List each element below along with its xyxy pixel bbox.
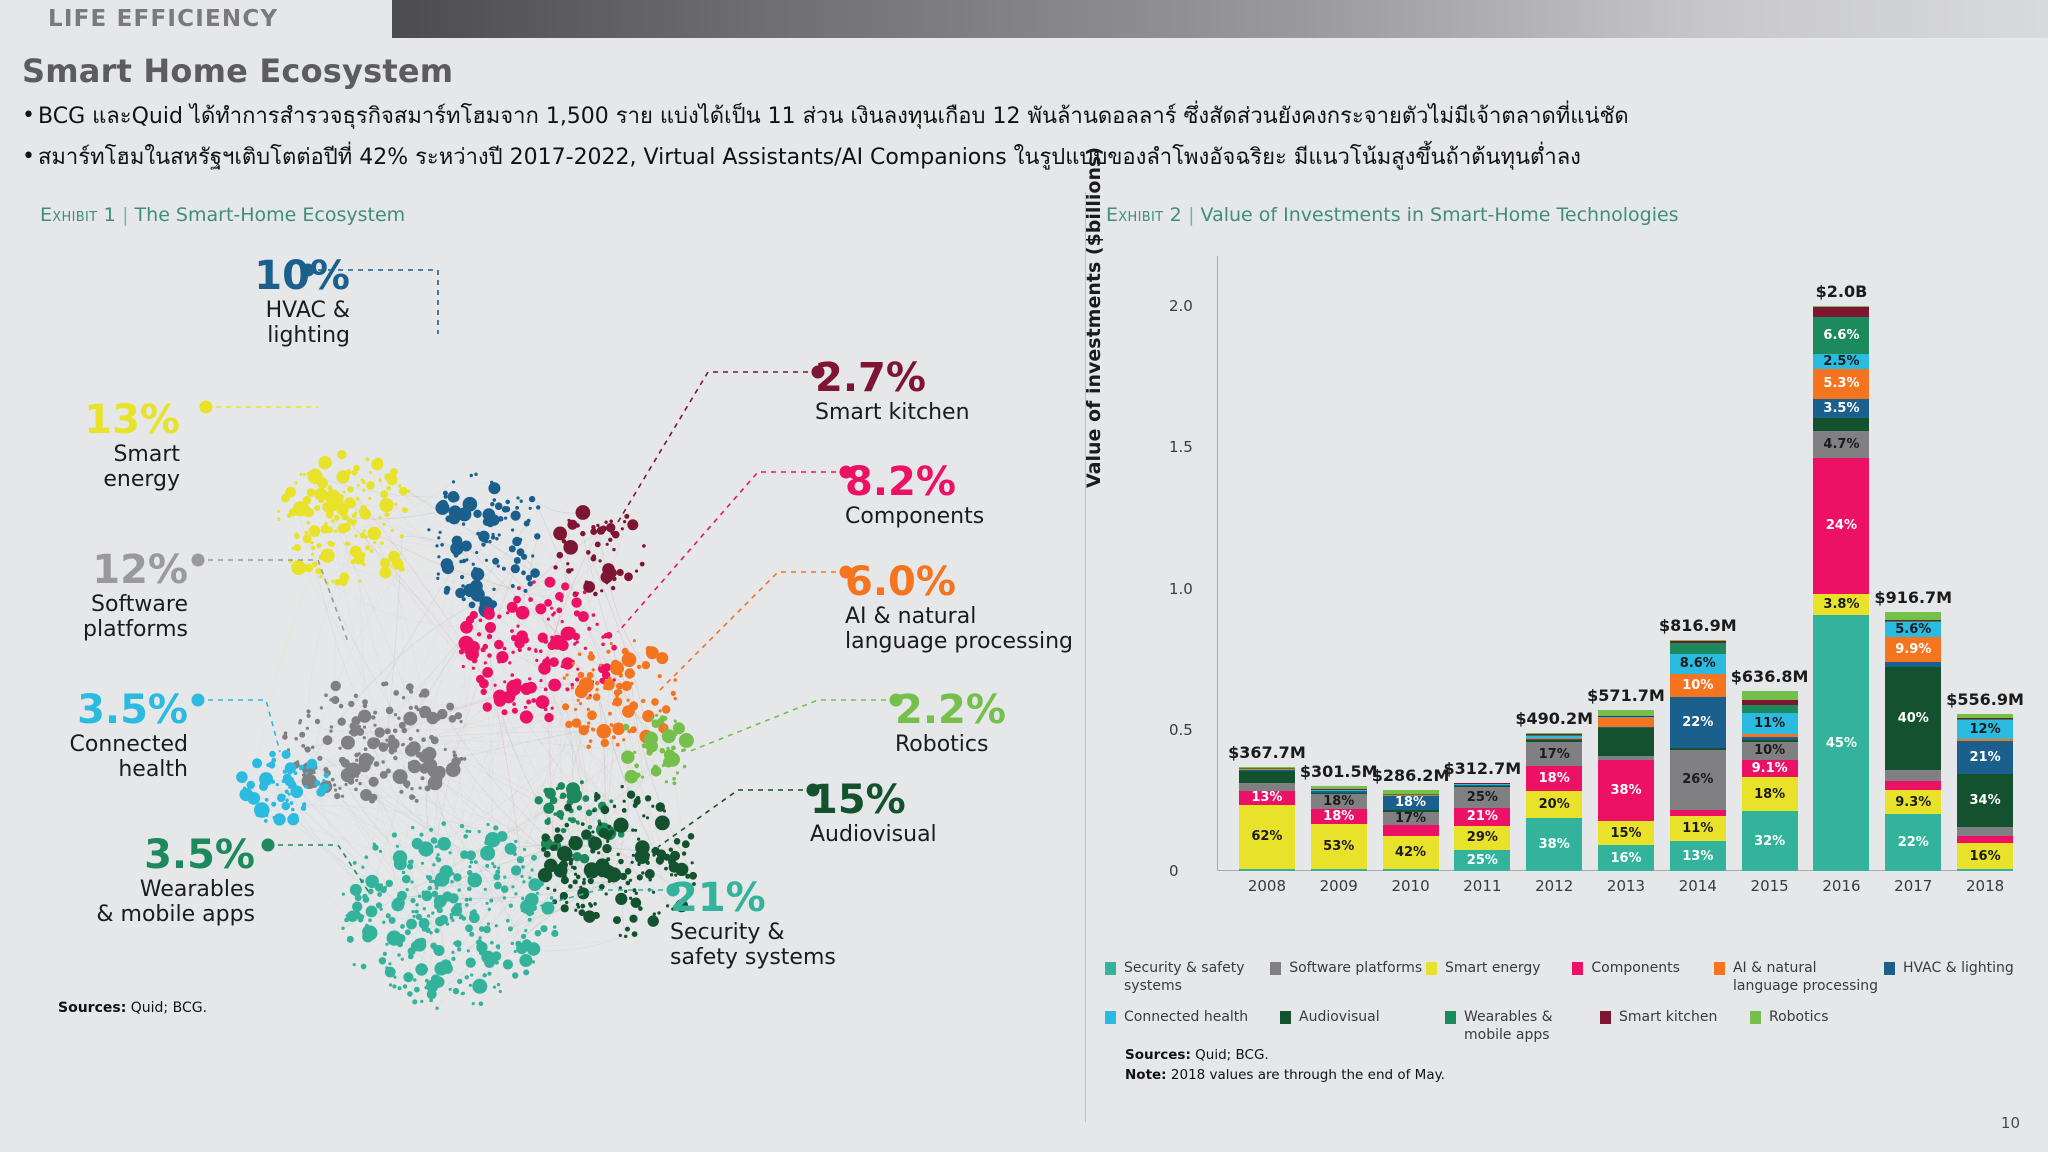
network-node — [532, 580, 536, 584]
network-node — [374, 761, 380, 767]
bar-segment[interactable]: 12% — [1957, 720, 2013, 739]
network-node — [541, 902, 554, 915]
network-node — [531, 855, 537, 861]
network-node — [561, 904, 569, 912]
bar-segment[interactable] — [1885, 770, 1941, 781]
network-node — [653, 912, 656, 915]
network-node — [341, 759, 350, 768]
network-node — [550, 607, 553, 610]
legend-item[interactable]: Smart kitchen — [1600, 1009, 1750, 1044]
network-node — [427, 914, 430, 917]
bar-segment[interactable] — [1598, 718, 1654, 726]
exhibit-1-title: Exhibit 1 | The Smart-Home Ecosystem — [18, 192, 1076, 226]
network-node — [635, 570, 638, 573]
network-node — [425, 891, 430, 896]
network-node — [363, 736, 366, 739]
network-node — [560, 796, 563, 799]
network-node — [381, 567, 384, 570]
bar-segment[interactable] — [1239, 783, 1295, 791]
y-tick-label: 0.5 — [1169, 721, 1193, 739]
bullet-text-2: สมาร์ทโฮมในสหรัฐฯเติบโตต่อปีที่ 42% ระหว… — [38, 145, 1581, 170]
network-node — [314, 505, 320, 511]
network-node — [437, 853, 440, 856]
bar-segment[interactable]: 17% — [1383, 812, 1439, 826]
network-node — [593, 693, 601, 701]
network-node — [403, 972, 413, 982]
network-node — [371, 715, 375, 719]
x-tick-label: 2012 — [1535, 877, 1573, 895]
callout-pct: 3.5% — [20, 690, 188, 730]
network-node — [360, 532, 366, 538]
bar-segment[interactable]: 3.8% — [1813, 594, 1869, 616]
callout-label: Security & safety systems — [670, 920, 900, 970]
bar-segment[interactable]: 17% — [1526, 742, 1582, 766]
callout-label: Robotics — [895, 732, 1085, 757]
network-node — [380, 490, 388, 498]
bar-segment[interactable] — [1957, 836, 2013, 844]
network-node — [528, 581, 533, 586]
bar-chart: Value of investments ($billions) 00.51.0… — [1085, 236, 2030, 916]
network-node — [544, 599, 552, 607]
network-node — [434, 928, 439, 933]
network-edge — [561, 678, 565, 786]
network-node — [303, 496, 312, 505]
network-node — [393, 729, 398, 734]
bar-segment[interactable]: 9.9% — [1885, 637, 1941, 663]
bar-segment[interactable]: 16% — [1957, 843, 2013, 868]
network-node — [382, 523, 385, 526]
bar-segment[interactable]: 38% — [1526, 818, 1582, 871]
page-title: Smart Home Ecosystem — [22, 52, 453, 90]
network-node — [392, 984, 396, 988]
network-node — [421, 862, 424, 865]
network-node — [469, 925, 472, 928]
network-node — [526, 700, 531, 705]
network-node — [316, 543, 321, 548]
legend-item[interactable]: AI & natural language processing — [1714, 960, 1884, 995]
network-node — [606, 650, 610, 654]
bar-segment[interactable]: 25% — [1454, 850, 1510, 871]
bar-column[interactable]: $571.7M16%15%38%2013 — [1598, 710, 1654, 872]
bar-segment[interactable]: 10% — [1670, 674, 1726, 697]
network-node — [347, 486, 353, 492]
network-node — [368, 918, 372, 922]
network-node — [361, 964, 367, 970]
bar-segment[interactable]: 11% — [1670, 816, 1726, 841]
network-node — [523, 848, 526, 851]
network-node — [410, 880, 413, 883]
network-node — [503, 647, 507, 651]
legend-swatch-icon — [1714, 962, 1725, 975]
bar-column[interactable]: $301.5M53%18%18%2009 — [1311, 786, 1367, 871]
network-node — [514, 840, 517, 843]
network-node — [485, 622, 496, 633]
network-node — [527, 942, 541, 956]
bar-segment[interactable]: 18% — [1742, 777, 1798, 811]
bar-segment[interactable]: 11% — [1742, 713, 1798, 734]
bar-segment[interactable]: 16% — [1598, 845, 1654, 871]
network-node — [631, 898, 642, 909]
network-node — [534, 650, 537, 653]
network-node — [495, 537, 498, 540]
network-node — [402, 507, 408, 513]
network-node — [527, 647, 531, 651]
network-node — [631, 861, 634, 864]
bar-segment[interactable] — [1957, 827, 2013, 835]
bar-segment[interactable]: 45% — [1813, 615, 1869, 871]
network-node — [363, 927, 370, 934]
bar-segment[interactable]: 10% — [1742, 742, 1798, 761]
network-node — [479, 951, 484, 956]
network-node — [420, 688, 429, 697]
bar-segment[interactable] — [1383, 825, 1439, 835]
network-node — [379, 957, 386, 964]
network-node — [290, 801, 294, 805]
network-node — [435, 1007, 438, 1010]
network-node — [492, 588, 495, 591]
exhibit-2-title: Exhibit 2 | Value of Investments in Smar… — [1086, 192, 2030, 226]
network-node — [472, 653, 475, 656]
bar-segment[interactable]: 34% — [1957, 774, 2013, 827]
network-node — [299, 767, 303, 771]
x-tick-label: 2011 — [1463, 877, 1501, 895]
network-node — [385, 967, 396, 978]
network-node — [481, 647, 486, 652]
network-node — [588, 825, 593, 830]
network-node — [329, 698, 332, 701]
network-node — [399, 487, 408, 496]
bar-column[interactable]: $286.2M42%17%18%2010 — [1383, 790, 1439, 871]
legend-swatch-icon — [1105, 962, 1116, 975]
network-node — [467, 592, 472, 597]
network-node — [573, 852, 582, 861]
bar-column[interactable]: $916.7M22%9.3%40%9.9%5.6%2017 — [1885, 612, 1941, 871]
network-node — [433, 977, 444, 988]
legend-item[interactable]: HVAC & lighting — [1884, 960, 2035, 995]
network-node — [523, 969, 529, 975]
network-node — [356, 775, 359, 778]
network-node — [264, 819, 268, 823]
network-node — [531, 912, 534, 915]
network-node — [389, 749, 395, 755]
network-node — [392, 832, 397, 837]
bar-segment[interactable] — [1957, 869, 2013, 871]
bar-segment[interactable]: 42% — [1383, 836, 1439, 870]
network-node — [466, 616, 474, 624]
bar-segment[interactable]: 18% — [1526, 766, 1582, 791]
network-node — [487, 972, 491, 976]
network-node — [446, 703, 454, 711]
bar-column[interactable]: $636.8M32%18%9.1%10%11%2015 — [1742, 691, 1798, 871]
callout-pct: 8.2% — [845, 462, 1055, 502]
network-node — [606, 632, 613, 639]
legend-item[interactable]: Security & safety systems — [1105, 960, 1270, 995]
network-node — [408, 760, 421, 773]
network-node — [660, 748, 666, 754]
network-node — [655, 816, 670, 831]
network-node — [432, 891, 439, 898]
bar-segment[interactable]: 20% — [1526, 791, 1582, 819]
network-node — [410, 787, 413, 790]
bar-segment[interactable] — [1239, 869, 1295, 871]
network-node — [629, 915, 637, 923]
network-node — [524, 706, 527, 709]
network-node — [656, 652, 668, 664]
network-node — [486, 902, 489, 905]
network-node — [676, 771, 679, 774]
network-node — [674, 720, 677, 723]
network-node — [590, 848, 595, 853]
network-node — [338, 718, 346, 726]
legend-item[interactable]: Audiovisual — [1280, 1009, 1445, 1044]
network-node — [463, 757, 466, 760]
network-node — [311, 546, 315, 550]
bar-segment[interactable]: 62% — [1239, 805, 1295, 869]
network-node — [621, 751, 634, 764]
bar-segment[interactable]: 3.5% — [1813, 399, 1869, 419]
network-node — [622, 738, 625, 741]
network-node — [520, 500, 523, 503]
network-node — [657, 858, 663, 864]
network-node — [622, 648, 629, 655]
network-node — [547, 618, 550, 621]
network-node — [625, 927, 630, 932]
bar-segment[interactable]: 2.5% — [1813, 354, 1869, 368]
network-node — [479, 926, 485, 932]
network-node — [311, 553, 314, 556]
network-node — [423, 907, 426, 910]
network-node — [413, 938, 426, 951]
network-node — [359, 509, 363, 513]
network-node — [492, 558, 499, 565]
bar-segment[interactable]: 25% — [1454, 787, 1510, 808]
bar-segment[interactable]: 22% — [1670, 697, 1726, 748]
bar-segment[interactable] — [1239, 771, 1295, 783]
bar-segment[interactable]: 5.6% — [1885, 622, 1941, 636]
network-edge — [524, 524, 531, 688]
network-node — [559, 861, 568, 870]
bar-segment[interactable]: 13% — [1670, 841, 1726, 871]
bar-column[interactable]: $367.7M62%13%2008 — [1239, 767, 1295, 871]
network-node — [368, 889, 374, 895]
bar-column[interactable]: $816.9M13%11%26%22%10%8.6%2014 — [1670, 640, 1726, 871]
network-node — [477, 632, 481, 636]
x-tick-label: 2015 — [1751, 877, 1789, 895]
network-node — [490, 481, 493, 484]
bar-segment[interactable]: 13% — [1239, 791, 1295, 805]
network-node — [271, 802, 276, 807]
network-node — [415, 963, 427, 975]
bullet-item-2: • สมาร์ทโฮมในสหรัฐฯเติบโตต่อปีที่ 42% ระ… — [22, 145, 1581, 170]
network-node — [511, 673, 515, 677]
network-node — [472, 1002, 475, 1005]
bar-segment[interactable] — [1885, 612, 1941, 619]
network-node — [487, 520, 494, 527]
bar-segment[interactable]: 4.7% — [1813, 431, 1869, 458]
network-node — [508, 661, 511, 664]
bar-stack: 16%34%21%12% — [1957, 714, 2013, 871]
network-node — [580, 780, 584, 784]
network-node — [465, 924, 473, 932]
bar-segment[interactable]: 9.3% — [1885, 790, 1941, 814]
bar-segment[interactable]: 29% — [1454, 826, 1510, 850]
bar-column[interactable]: $312.7M25%29%21%25%2011 — [1454, 783, 1510, 871]
network-node — [601, 635, 605, 639]
bar-segment[interactable]: 22% — [1885, 814, 1941, 871]
network-node — [531, 868, 534, 871]
bar-segment[interactable] — [1670, 643, 1726, 654]
bar-stack: 16%15%38% — [1598, 710, 1654, 872]
bar-segment[interactable] — [1742, 691, 1798, 700]
bar-segment[interactable]: 9.1% — [1742, 760, 1798, 777]
bullet-marker-icon: • — [22, 145, 38, 169]
network-node — [646, 816, 649, 819]
bar-segment[interactable]: 18% — [1311, 809, 1367, 824]
bar-segment[interactable]: 53% — [1311, 824, 1367, 869]
network-node — [373, 541, 376, 544]
legend-item[interactable]: Software platforms — [1270, 960, 1426, 995]
network-node — [429, 828, 433, 832]
network-node — [469, 898, 473, 902]
network-node — [543, 639, 548, 644]
network-node — [598, 822, 602, 826]
network-node — [556, 810, 564, 818]
network-node — [307, 488, 316, 497]
network-node — [505, 500, 510, 505]
bar-segment[interactable]: 21% — [1454, 808, 1510, 826]
network-node — [583, 590, 587, 594]
network-node — [281, 802, 290, 811]
network-node — [671, 691, 676, 696]
network-node — [576, 875, 581, 880]
network-node — [515, 506, 519, 510]
network-node — [247, 781, 255, 789]
bar-column[interactable]: $556.9M16%34%21%12%2018 — [1957, 714, 2013, 871]
network-node — [483, 702, 492, 711]
network-node — [461, 541, 472, 552]
network-node — [605, 892, 608, 895]
network-node — [379, 743, 388, 752]
network-node — [542, 658, 551, 667]
bar-segment[interactable] — [1813, 307, 1869, 317]
bar-column[interactable]: $490.2M38%20%18%17%2012 — [1526, 733, 1582, 871]
network-node — [390, 502, 393, 505]
legend-item[interactable]: Components — [1572, 960, 1714, 995]
network-node — [341, 513, 346, 518]
network-node — [497, 946, 501, 950]
network-node — [528, 677, 531, 680]
bar-segment[interactable]: 18% — [1311, 794, 1367, 809]
network-node — [434, 902, 442, 910]
bar-column[interactable]: $2.0B45%3.8%24%4.7%3.5%5.3%2.5%6.6%2016 — [1813, 306, 1869, 871]
network-node — [437, 555, 440, 558]
legend-item[interactable]: Wearables & mobile apps — [1445, 1009, 1600, 1044]
network-node — [511, 865, 521, 875]
network-node — [633, 803, 638, 808]
x-tick-label: 2010 — [1391, 877, 1429, 895]
network-node — [354, 788, 358, 792]
network-node — [624, 514, 629, 519]
network-node — [357, 484, 360, 487]
bar-segment[interactable]: 18% — [1383, 796, 1439, 810]
legend-item[interactable]: Robotics — [1750, 1009, 1910, 1044]
network-node — [421, 776, 425, 780]
network-node — [522, 880, 525, 883]
network-node — [362, 754, 368, 760]
bar-segment[interactable]: 40% — [1885, 667, 1941, 770]
bar-total-label: $571.7M — [1587, 686, 1665, 705]
network-node — [330, 725, 333, 728]
network-node — [368, 497, 371, 500]
network-node — [414, 705, 418, 709]
network-node — [302, 773, 306, 777]
network-node — [493, 986, 496, 989]
network-node — [343, 509, 346, 512]
bar-segment[interactable]: 8.6% — [1670, 654, 1726, 674]
network-node — [546, 887, 549, 890]
bar-segment[interactable]: 32% — [1742, 811, 1798, 871]
network-node — [437, 536, 440, 539]
network-node — [578, 672, 585, 679]
network-node — [397, 717, 400, 720]
network-node — [363, 726, 366, 729]
network-node — [332, 501, 336, 505]
network-node — [652, 719, 661, 728]
bar-segment[interactable]: 15% — [1598, 821, 1654, 845]
bar-segment[interactable] — [1311, 869, 1367, 871]
bar-segment[interactable]: 38% — [1598, 760, 1654, 821]
network-node — [517, 856, 524, 863]
bar-segment[interactable]: 21% — [1957, 741, 2013, 774]
legend-swatch-icon — [1600, 1011, 1611, 1024]
callout-pct: 15% — [810, 780, 1000, 820]
bar-segment[interactable]: 6.6% — [1813, 317, 1869, 354]
bar-segment[interactable] — [1885, 781, 1941, 790]
network-node — [649, 752, 652, 755]
network-node — [584, 647, 587, 650]
network-node — [461, 584, 465, 588]
network-node — [365, 457, 369, 461]
network-node — [493, 498, 497, 502]
network-node — [353, 861, 357, 865]
bar-segment[interactable] — [1742, 705, 1798, 714]
note-line: Note: 2018 values are through the end of… — [1125, 1066, 1445, 1086]
bar-stack: 22%9.3%40%9.9%5.6% — [1885, 612, 1941, 871]
callout-pct: 13% — [30, 400, 180, 440]
legend-row-2: Connected healthAudiovisualWearables & m… — [1105, 1009, 2035, 1044]
network-node — [282, 750, 291, 759]
network-node — [485, 540, 488, 543]
bar-segment[interactable]: 5.3% — [1813, 369, 1869, 399]
bar-segment[interactable] — [1383, 869, 1439, 871]
bar-segment[interactable]: 26% — [1670, 750, 1726, 810]
network-node — [625, 868, 632, 875]
network-node — [592, 809, 595, 812]
network-node — [601, 739, 609, 747]
bar-segment[interactable] — [1598, 728, 1654, 755]
note-value: 2018 values are through the end of May. — [1171, 1067, 1445, 1083]
network-node — [268, 761, 275, 768]
bar-segment[interactable]: 24% — [1813, 458, 1869, 594]
legend-item[interactable]: Smart energy — [1426, 960, 1572, 995]
bar-stack: 53%18%18% — [1311, 786, 1367, 871]
network-node — [478, 531, 489, 542]
bar-segment[interactable] — [1813, 418, 1869, 430]
legend-item[interactable]: Connected health — [1105, 1009, 1280, 1044]
network-node — [506, 919, 510, 923]
network-node — [413, 921, 416, 924]
network-node — [461, 992, 464, 995]
